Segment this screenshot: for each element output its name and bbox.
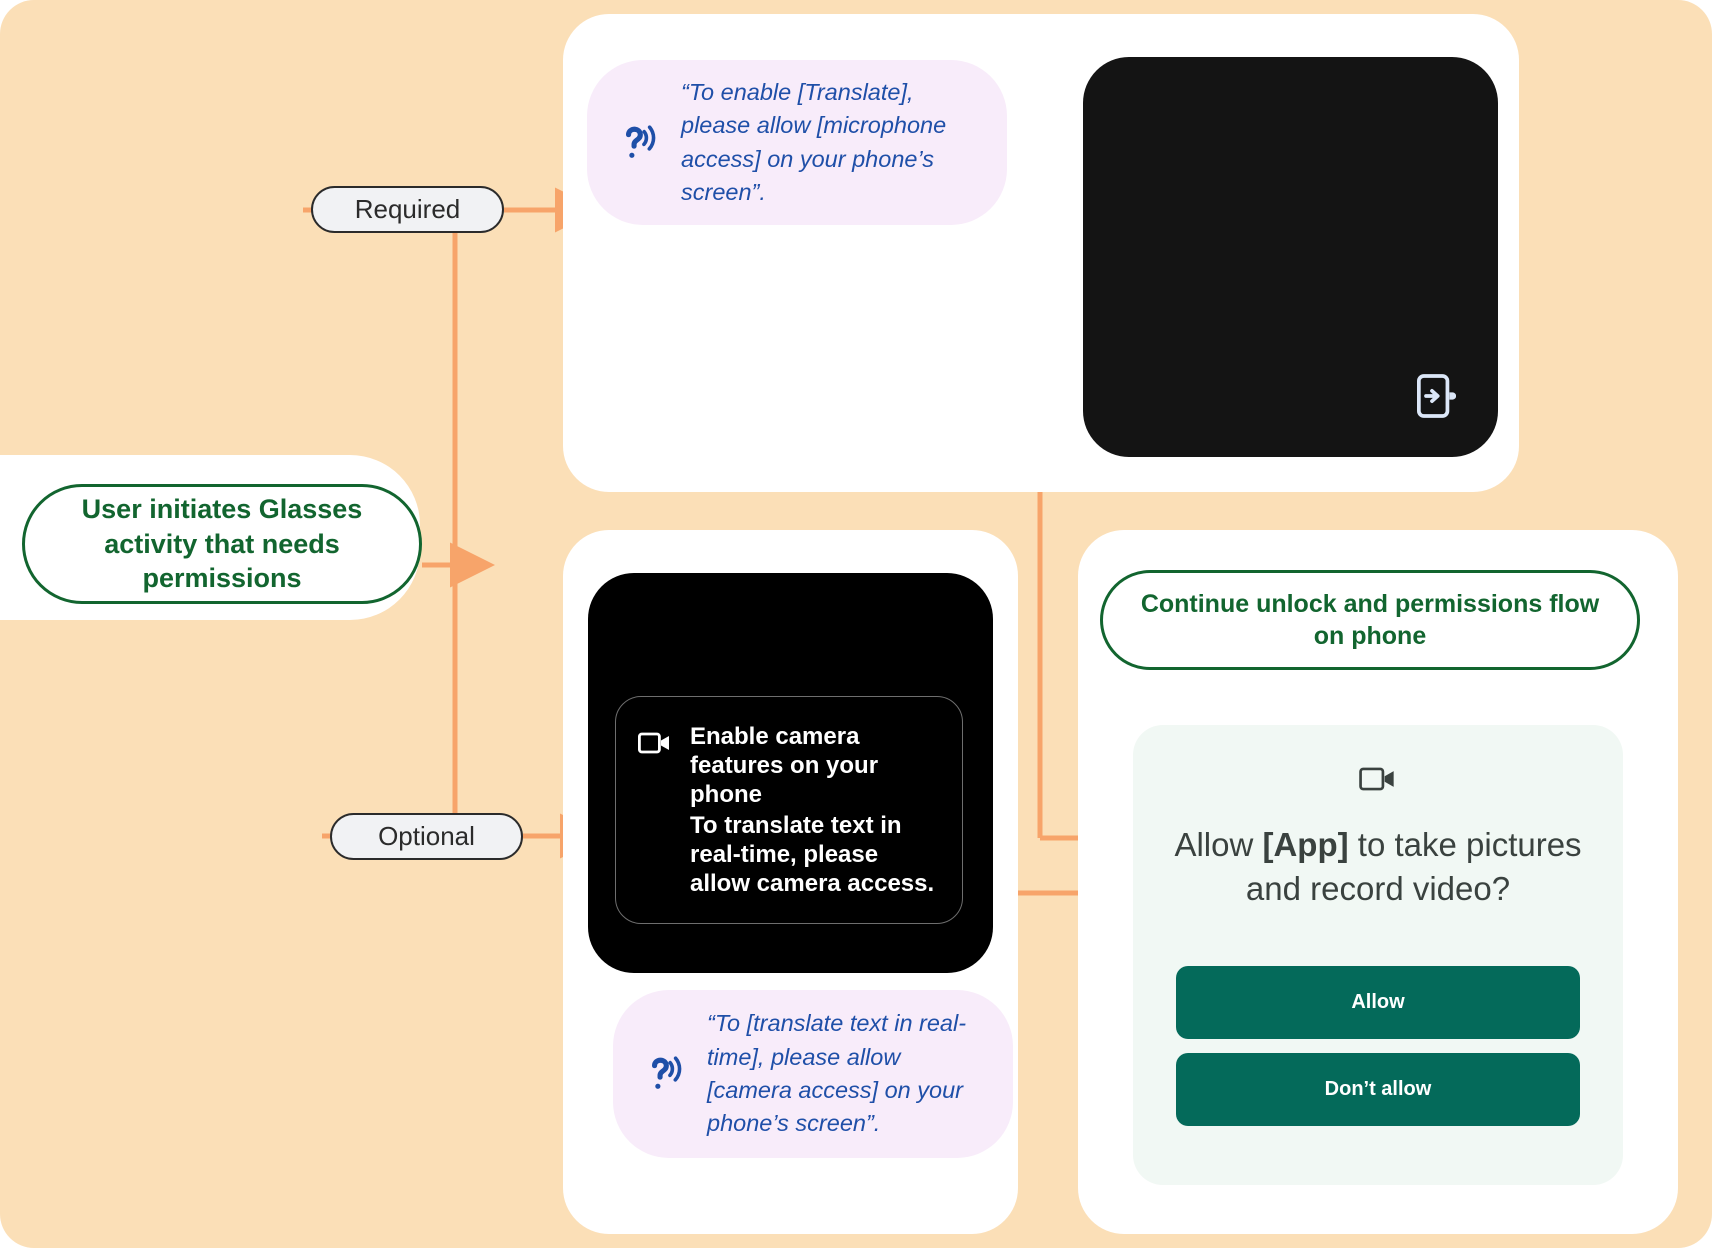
dont-allow-button[interactable]: Don’t allow xyxy=(1176,1053,1580,1126)
glasses-display-card-camera: Enable camera features on your phone To … xyxy=(588,573,993,973)
branch-pill-optional[interactable]: Optional xyxy=(330,813,523,860)
glasses-notification-title: Enable camera features on your phone xyxy=(690,723,878,808)
start-node: User initiates Glasses activity that nee… xyxy=(22,484,422,604)
video-camera-icon xyxy=(638,728,672,758)
permission-title-before: Allow xyxy=(1174,826,1262,863)
glasses-notification-body: To translate text in real-time, please a… xyxy=(690,812,940,898)
phone-arrow-in-icon xyxy=(1416,373,1456,419)
flow-diagram-canvas: User initiates Glasses activity that nee… xyxy=(0,0,1712,1248)
branch-pill-required[interactable]: Required xyxy=(311,186,504,233)
glasses-display-card-unlock xyxy=(1083,57,1498,457)
glasses-notification: Enable camera features on your phone To … xyxy=(615,696,963,924)
continue-on-phone-node: Continue unlock and permissions flow on … xyxy=(1100,570,1640,670)
speech-bubble-camera-text: “To [translate text in real-time], pleas… xyxy=(707,1007,979,1140)
permission-dialog-title: Allow [App] to take pictures and record … xyxy=(1158,823,1598,910)
permission-title-app: [App] xyxy=(1262,826,1348,863)
speech-bubble-microphone: “To enable [Translate], please allow [mi… xyxy=(587,60,1007,225)
android-permission-dialog: Allow [App] to take pictures and record … xyxy=(1133,725,1623,1185)
speech-bubble-microphone-text: “To enable [Translate], please allow [mi… xyxy=(681,76,973,209)
video-camera-icon xyxy=(1359,763,1397,795)
speech-bubble-camera: “To [translate text in real-time], pleas… xyxy=(613,990,1013,1158)
ear-audio-icon xyxy=(641,1052,685,1096)
ear-audio-icon xyxy=(615,121,659,165)
allow-button[interactable]: Allow xyxy=(1176,966,1580,1039)
